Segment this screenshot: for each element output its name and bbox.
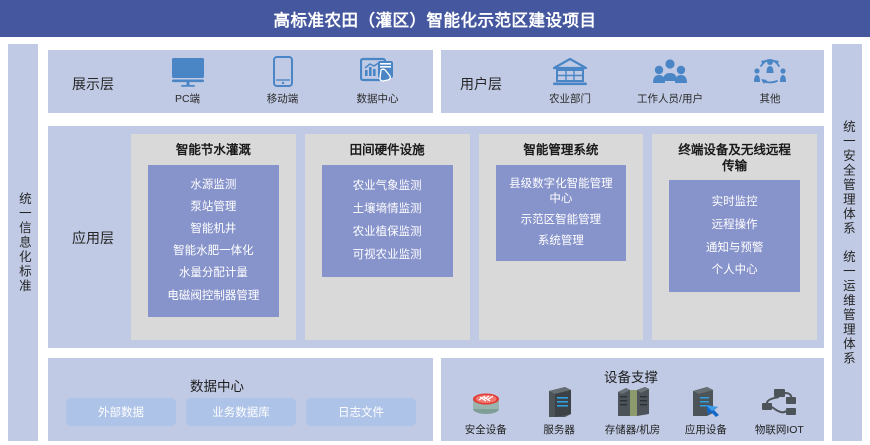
list-item[interactable]: 水源监测 (190, 178, 236, 192)
display-item-pc-label: PC端 (175, 91, 200, 106)
device-item-storage[interactable]: 存储器/机房 (596, 381, 669, 437)
app-column-smart-irrigation: 智能节水灌溉 水源监测 泵站管理 智能机井 智能水肥一体化 水量分配计量 电磁阀… (131, 134, 296, 340)
list-item[interactable]: 个人中心 (712, 263, 758, 277)
app-column-items: 农业气象监测 土壤墒情监测 农业植保监测 可视农业监测 (322, 165, 453, 277)
monitor-icon (170, 55, 206, 89)
storage-rack-icon (615, 385, 651, 419)
app-column-items: 实时监控 远程操作 通知与预警 个人中心 (669, 180, 800, 292)
app-column-items: 水源监测 泵站管理 智能机井 智能水肥一体化 水量分配计量 电磁阀控制器管理 (148, 165, 279, 317)
display-layer-icons: PC端 移动端 (140, 58, 425, 106)
server-tower-icon (544, 385, 574, 419)
people-group-icon (652, 55, 688, 89)
left-rail-label: 统一信息化标准 (16, 192, 30, 294)
device-item-iot-label: 物联网IOT (755, 422, 804, 437)
architecture-diagram: 高标准农田（灌区）智能化示范区建设项目 统一信息化标准 统一安全管理体系 统一运… (0, 0, 870, 445)
list-item[interactable]: 可视农业监测 (353, 248, 422, 262)
page-title: 高标准农田（灌区）智能化示范区建设项目 (274, 7, 597, 31)
list-item[interactable]: 通知与预警 (706, 241, 764, 255)
list-item[interactable]: 智能机井 (190, 222, 236, 236)
left-rail-standards: 统一信息化标准 (8, 44, 38, 441)
list-item[interactable]: 泵站管理 (190, 200, 236, 214)
display-item-pc[interactable]: PC端 (140, 55, 235, 106)
list-item[interactable]: 智能水肥一体化 (173, 244, 254, 258)
user-item-other[interactable]: 其他 (720, 55, 820, 106)
display-item-datacenter-label: 数据中心 (357, 91, 399, 106)
list-item[interactable]: 农业植保监测 (353, 225, 422, 239)
display-item-mobile[interactable]: 移动端 (235, 55, 330, 106)
router-security-icon (467, 385, 505, 419)
device-item-security-label: 安全设备 (465, 422, 507, 437)
device-support-icons: 安全设备 服务器 (449, 381, 816, 437)
people-cycle-icon (752, 55, 788, 89)
right-rail-label-operations: 统一运维管理体系 (840, 250, 854, 366)
list-item[interactable]: 土壤墒情监测 (353, 202, 422, 216)
app-column-title: 终端设备及无线远程传输 (670, 143, 800, 174)
app-column-terminal-transmission: 终端设备及无线远程传输 实时监控 远程操作 通知与预警 个人中心 (652, 134, 817, 340)
list-item[interactable]: 实时监控 (712, 195, 758, 209)
app-column-title: 智能管理系统 (519, 143, 602, 159)
device-item-application-label: 应用设备 (685, 422, 727, 437)
tablet-chart-icon (360, 55, 396, 89)
government-building-icon (552, 55, 588, 89)
display-item-datacenter[interactable]: 数据中心 (330, 55, 425, 106)
display-layer-label: 展示层 (72, 74, 114, 94)
list-item[interactable]: 水量分配计量 (179, 266, 248, 280)
data-center-item-log-file[interactable]: 日志文件 (306, 398, 416, 426)
device-item-storage-label: 存储器/机房 (605, 422, 660, 437)
right-rail-management: 统一安全管理体系 统一运维管理体系 (832, 44, 862, 441)
device-item-server[interactable]: 服务器 (522, 381, 595, 437)
device-item-security[interactable]: 安全设备 (449, 381, 522, 437)
display-item-mobile-label: 移动端 (267, 91, 299, 106)
app-column-title: 智能节水灌溉 (172, 143, 255, 159)
app-column-title: 田间硬件设施 (346, 143, 429, 159)
data-center-title: 数据中心 (190, 375, 244, 395)
user-layer-icons: 农业部门 工作人员/用户 (520, 58, 820, 106)
application-layer-label: 应用层 (72, 228, 114, 248)
list-item[interactable]: 系统管理 (538, 234, 584, 248)
app-column-field-hardware: 田间硬件设施 农业气象监测 土壤墒情监测 农业植保监测 可视农业监测 (305, 134, 470, 340)
user-item-other-label: 其他 (760, 91, 781, 106)
app-column-management-system: 智能管理系统 县级数字化智能管理中心 示范区智能管理 系统管理 (479, 134, 644, 340)
user-item-staff[interactable]: 工作人员/用户 (620, 55, 720, 106)
application-columns: 智能节水灌溉 水源监测 泵站管理 智能机井 智能水肥一体化 水量分配计量 电磁阀… (131, 134, 817, 340)
right-rail-label-security: 统一安全管理体系 (840, 120, 854, 236)
list-item[interactable]: 示范区智能管理 (521, 213, 602, 227)
title-bar: 高标准农田（灌区）智能化示范区建设项目 (0, 0, 870, 37)
list-item[interactable]: 电磁阀控制器管理 (167, 289, 259, 303)
device-item-application[interactable]: 应用设备 (669, 381, 742, 437)
list-item[interactable]: 县级数字化智能管理中心 (509, 177, 613, 206)
list-item[interactable]: 农业气象监测 (353, 179, 422, 193)
user-item-agriculture-dept[interactable]: 农业部门 (520, 55, 620, 106)
data-center-item-external[interactable]: 外部数据 (66, 398, 176, 426)
user-item-agriculture-dept-label: 农业部门 (549, 91, 591, 106)
user-item-staff-label: 工作人员/用户 (637, 91, 703, 106)
data-center-item-business-db[interactable]: 业务数据库 (186, 398, 296, 426)
data-center-pills: 外部数据 业务数据库 日志文件 (66, 398, 416, 426)
list-item[interactable]: 远程操作 (712, 218, 758, 232)
user-layer-label: 用户层 (460, 74, 502, 94)
device-item-iot[interactable]: 物联网IOT (743, 381, 816, 437)
app-column-items: 县级数字化智能管理中心 示范区智能管理 系统管理 (496, 165, 627, 261)
device-item-server-label: 服务器 (543, 422, 575, 437)
application-server-icon (688, 385, 724, 419)
mobile-phone-icon (272, 55, 294, 89)
iot-network-icon (761, 385, 797, 419)
